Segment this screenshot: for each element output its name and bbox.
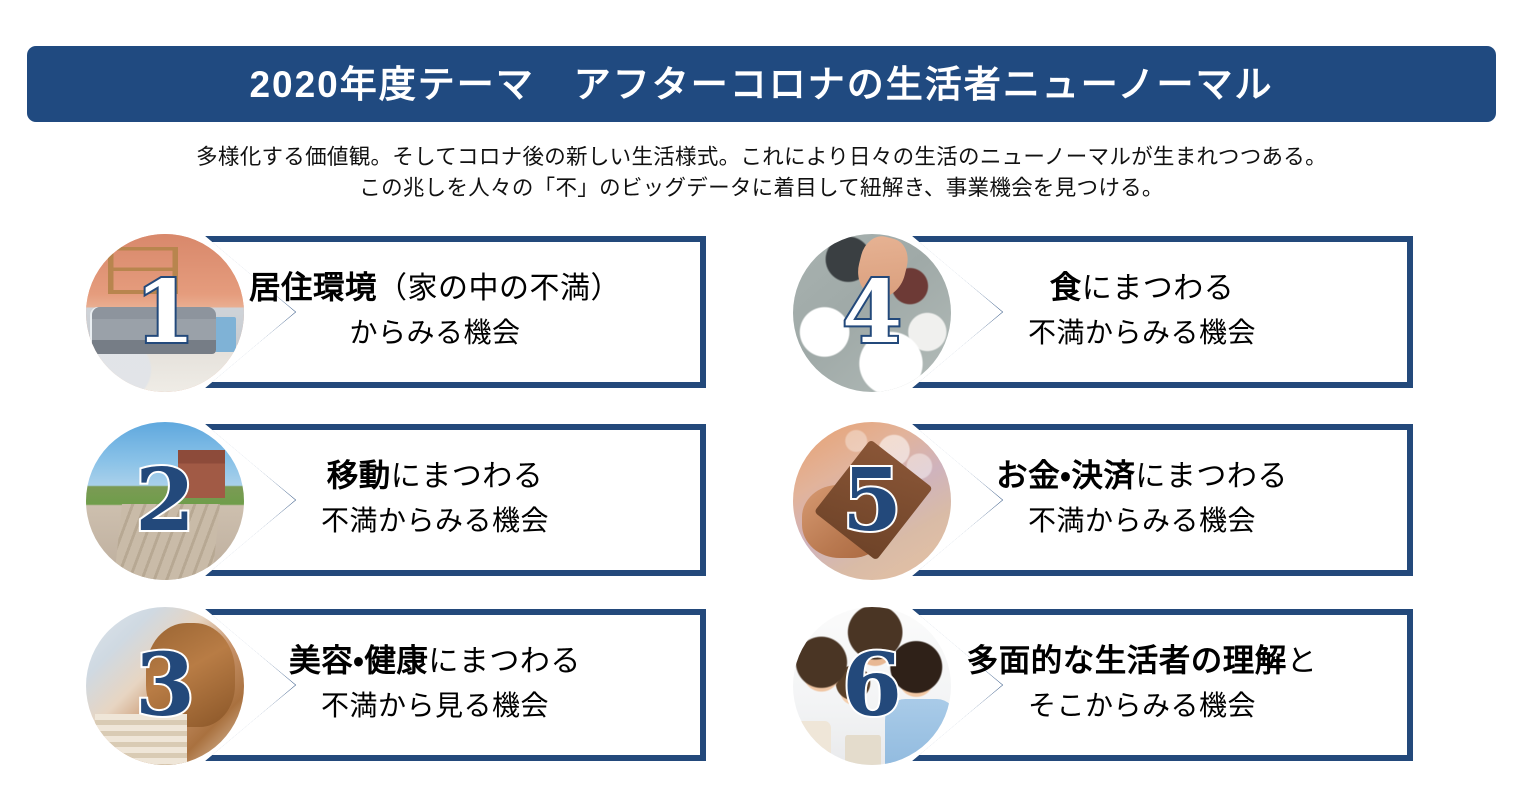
card-suffix: にまつわる: [1082, 272, 1235, 305]
thumbnail-4: 4: [793, 234, 951, 392]
thumbnail-3: 3: [86, 607, 244, 765]
slide-title-bar: 2020年度テーマ アフターコロナの生活者ニューノーマル: [27, 46, 1496, 122]
card-line-2: からみる機会: [349, 311, 520, 355]
card-text-1: 居住環境（家の中の不満） からみる機会: [178, 234, 692, 386]
card-number-6: 6: [793, 643, 951, 729]
card-suffix: と: [1287, 645, 1318, 678]
card-suffix: にまつわる: [428, 645, 581, 678]
card-text-4: 食にまつわる 不満からみる機会: [885, 234, 1399, 386]
card-line-2: そこからみる機会: [1028, 684, 1256, 728]
card-keyword: お金・決済: [996, 457, 1135, 493]
subtitle-line-1: 多様化する価値観。そしてコロナ後の新しい生活様式。これにより日々の生活のニューノ…: [0, 142, 1523, 173]
card-suffix: にまつわる: [1135, 460, 1288, 493]
thumbnail-6: 6: [793, 607, 951, 765]
card-keyword: 移動: [327, 457, 391, 493]
thumbnail-5: 5: [793, 422, 951, 580]
card-keyword: 居住環境: [249, 269, 377, 305]
card-line-2: 不満からみる機会: [321, 499, 549, 543]
opportunity-card-5[interactable]: お金・決済にまつわる 不満からみる機会 5: [793, 422, 1413, 580]
card-line-2: 不満からみる機会: [1028, 311, 1256, 355]
card-number-5: 5: [793, 458, 951, 544]
opportunity-card-3[interactable]: 美容・健康にまつわる 不満から見る機会 3: [86, 607, 706, 765]
page-title: 2020年度テーマ アフターコロナの生活者ニューノーマル: [249, 66, 1273, 103]
card-number-2: 2: [86, 458, 244, 544]
card-line-1: 居住環境（家の中の不満）: [249, 265, 621, 311]
card-line-1: お金・決済にまつわる: [996, 453, 1288, 499]
card-number-3: 3: [86, 643, 244, 729]
thumbnail-1: 1: [86, 234, 244, 392]
card-text-5: お金・決済にまつわる 不満からみる機会: [885, 422, 1399, 574]
opportunity-card-4[interactable]: 食にまつわる 不満からみる機会 4: [793, 234, 1413, 392]
card-line-1: 美容・健康にまつわる: [289, 638, 581, 684]
thumbnail-2: 2: [86, 422, 244, 580]
card-number-4: 4: [793, 270, 951, 356]
card-line-1: 多面的な生活者の理解と: [967, 638, 1318, 684]
opportunity-card-1[interactable]: 居住環境（家の中の不満） からみる機会 1: [86, 234, 706, 392]
card-suffix: （家の中の不満）: [377, 272, 621, 305]
card-keyword: 美容・健康: [289, 642, 428, 678]
card-text-2: 移動にまつわる 不満からみる機会: [178, 422, 692, 574]
card-line-2: 不満から見る機会: [321, 684, 549, 728]
card-suffix: にまつわる: [391, 460, 544, 493]
subtitle-block: 多様化する価値観。そしてコロナ後の新しい生活様式。これにより日々の生活のニューノ…: [0, 142, 1523, 204]
card-line-2: 不満からみる機会: [1028, 499, 1256, 543]
card-line-1: 食にまつわる: [1050, 265, 1235, 311]
opportunity-card-6[interactable]: 多面的な生活者の理解と そこからみる機会 6: [793, 607, 1413, 765]
card-text-3: 美容・健康にまつわる 不満から見る機会: [178, 607, 692, 759]
card-line-1: 移動にまつわる: [327, 453, 544, 499]
card-keyword: 多面的な生活者の理解: [967, 642, 1287, 678]
card-text-6: 多面的な生活者の理解と そこからみる機会: [885, 607, 1399, 759]
card-number-1: 1: [86, 270, 244, 356]
opportunity-card-2[interactable]: 移動にまつわる 不満からみる機会 2: [86, 422, 706, 580]
card-keyword: 食: [1050, 269, 1082, 305]
subtitle-line-2: この兆しを人々の「不」のビッグデータに着目して紐解き、事業機会を見つける。: [0, 173, 1523, 204]
